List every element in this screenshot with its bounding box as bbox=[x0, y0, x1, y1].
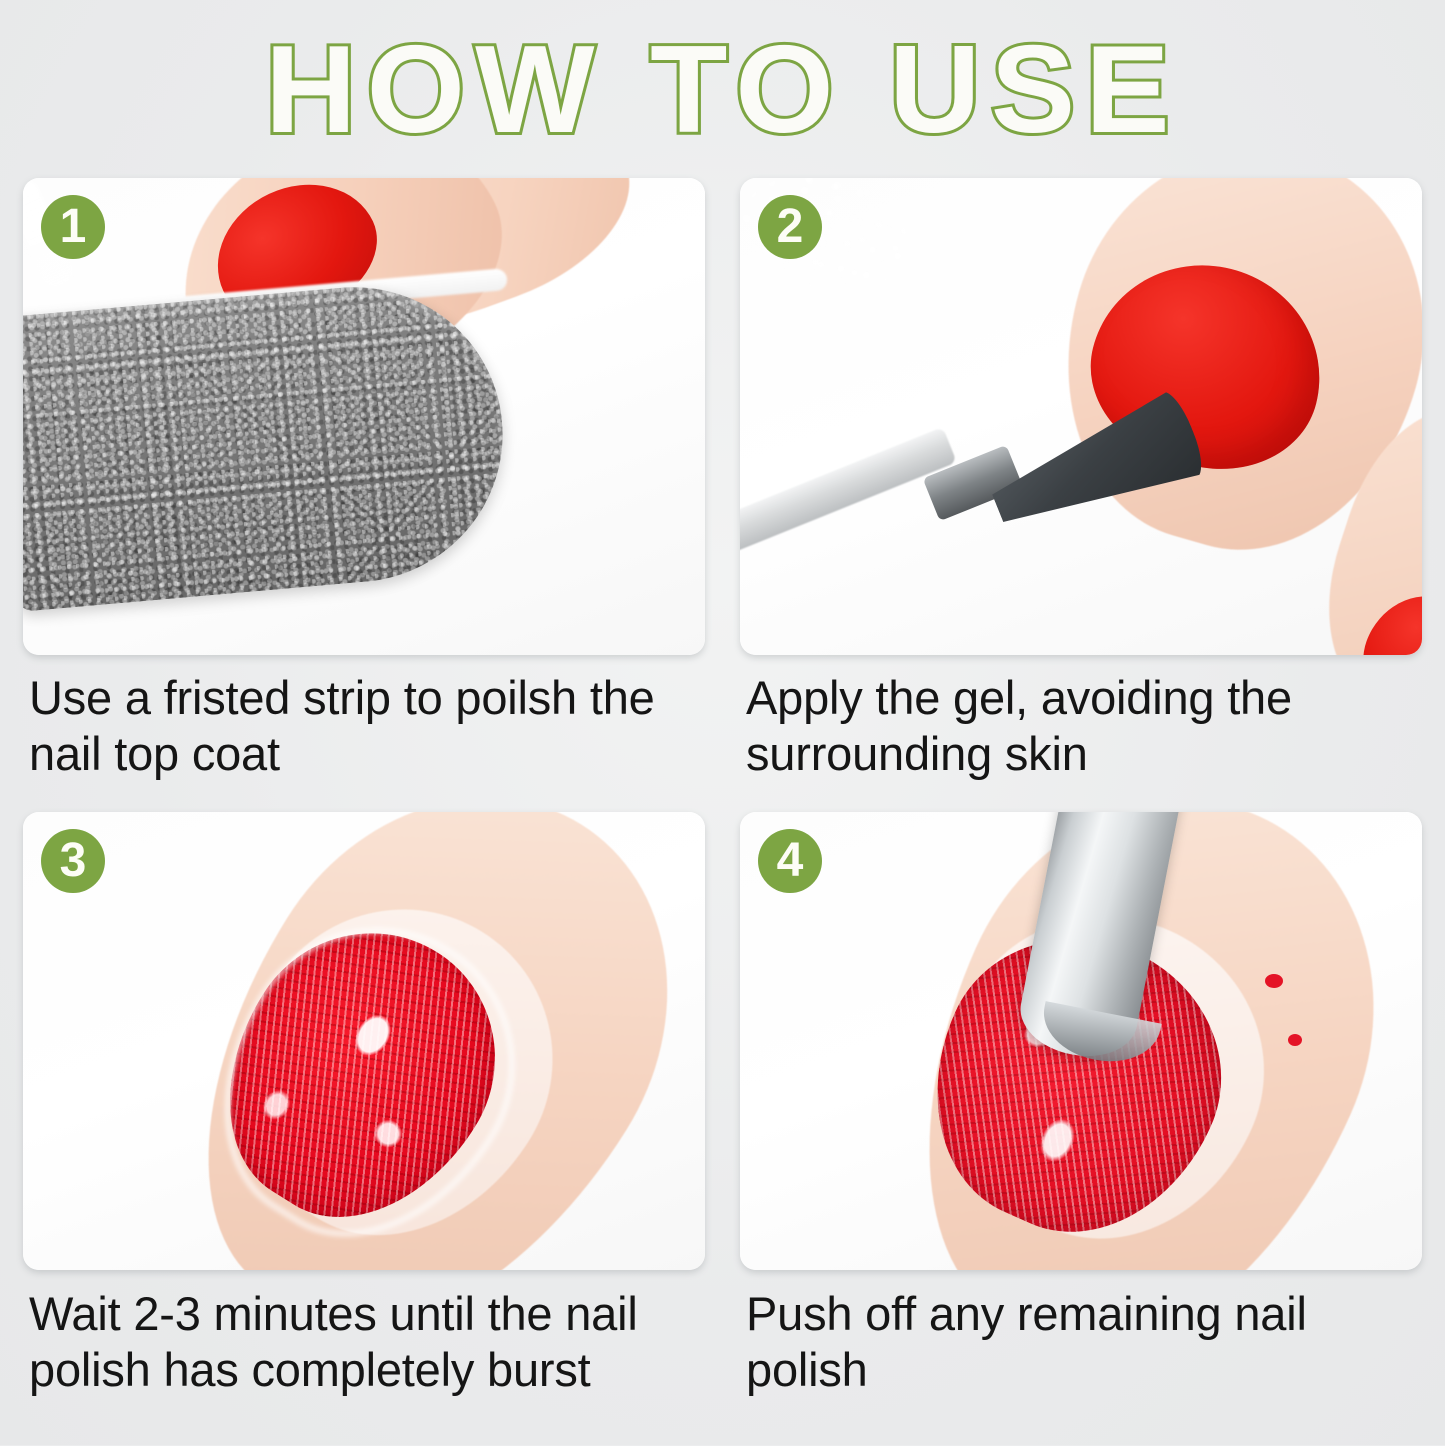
step-badge-4: 4 bbox=[758, 829, 822, 893]
steps-grid: 1 Use a fristed strip to poilsh the nail… bbox=[23, 178, 1422, 1423]
step-badge-2: 2 bbox=[758, 195, 822, 259]
polish-fleck bbox=[1288, 1034, 1302, 1046]
step-badge-3: 3 bbox=[41, 829, 105, 893]
step-card-3: 3 Wait 2-3 minutes until the nail polish… bbox=[23, 812, 705, 1446]
photo-scene-2 bbox=[740, 178, 1422, 655]
photo-scene-3 bbox=[23, 812, 705, 1270]
page-title: HOW TO USE bbox=[265, 28, 1180, 152]
step-photo-3: 3 bbox=[23, 812, 705, 1270]
step-photo-2: 2 bbox=[740, 178, 1422, 655]
step-photo-4: 4 bbox=[740, 812, 1422, 1270]
photo-scene-4 bbox=[740, 812, 1422, 1270]
step-caption-4: Push off any remaining nail polish bbox=[746, 1286, 1436, 1398]
polish-fleck bbox=[1265, 974, 1283, 988]
step-caption-1: Use a fristed strip to poilsh the nail t… bbox=[29, 670, 719, 782]
step-caption-2: Apply the gel, avoiding the surrounding … bbox=[746, 670, 1436, 782]
step-card-4: 4 Push off any remaining nail polish bbox=[740, 812, 1422, 1446]
step-photo-1: 1 bbox=[23, 178, 705, 655]
photo-scene-1 bbox=[23, 178, 705, 655]
page-title-wrap: HOW TO USE bbox=[0, 28, 1445, 158]
step-badge-1: 1 bbox=[41, 195, 105, 259]
step-caption-3: Wait 2-3 minutes until the nail polish h… bbox=[29, 1286, 719, 1398]
step-card-1: 1 Use a fristed strip to poilsh the nail… bbox=[23, 178, 705, 812]
how-to-use-infographic: HOW TO USE 1 Use a fristed strip to poil… bbox=[0, 0, 1445, 1445]
step-card-2: 2 Apply the gel, avoiding the surroundin… bbox=[740, 178, 1422, 812]
